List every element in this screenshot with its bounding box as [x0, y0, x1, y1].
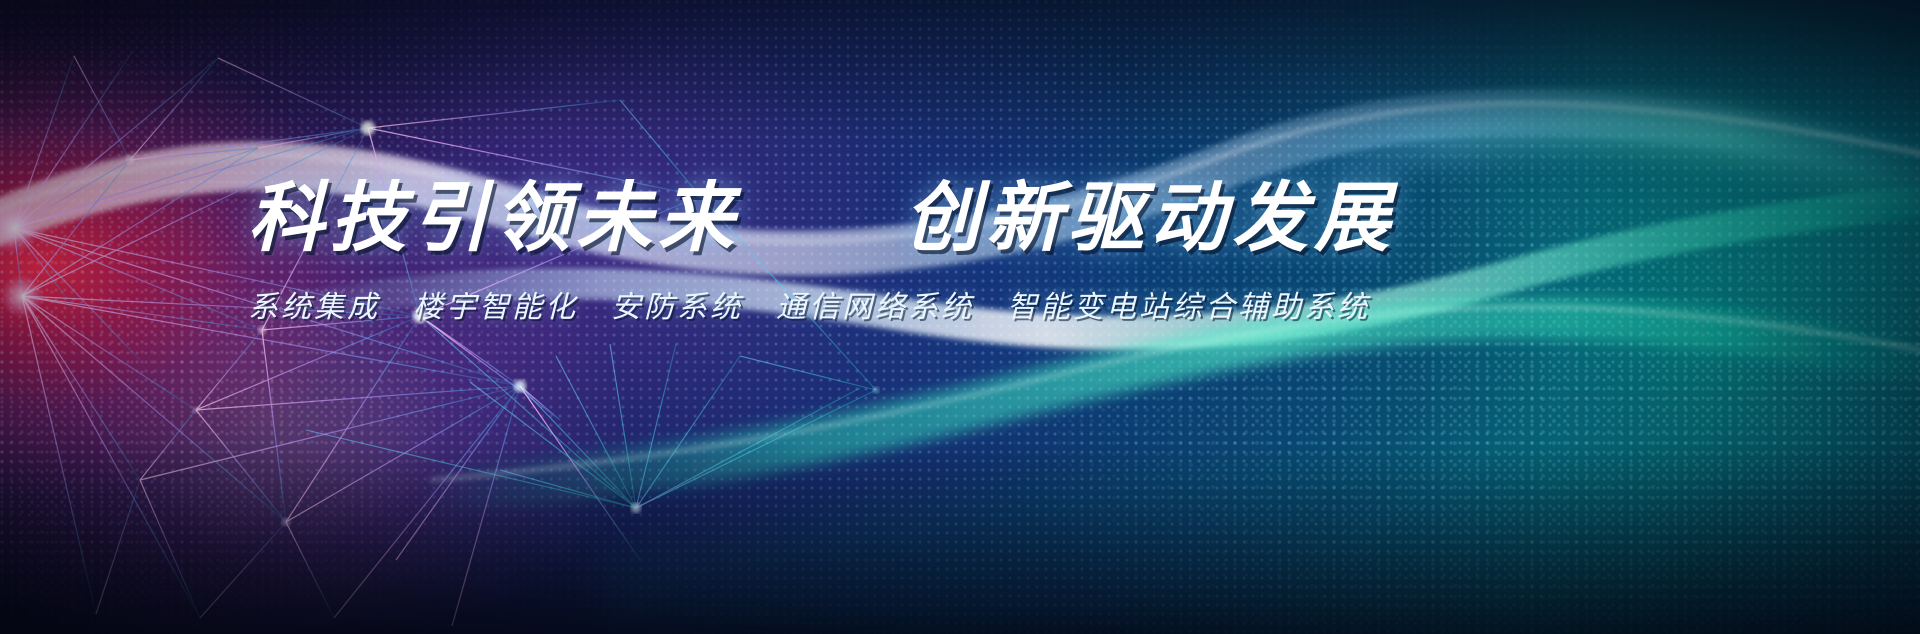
page-title: 科技引领未来 创新驱动发展: [248, 178, 1448, 260]
banner-text-block: 科技引领未来 创新驱动发展 系统集成 楼宇智能化 安防系统 通信网络系统 智能变…: [248, 178, 1448, 326]
tech-banner: 科技引领未来 创新驱动发展 系统集成 楼宇智能化 安防系统 通信网络系统 智能变…: [0, 0, 1920, 634]
banner-subtitle: 系统集成 楼宇智能化 安防系统 通信网络系统 智能变电站综合辅助系统: [248, 282, 1448, 326]
